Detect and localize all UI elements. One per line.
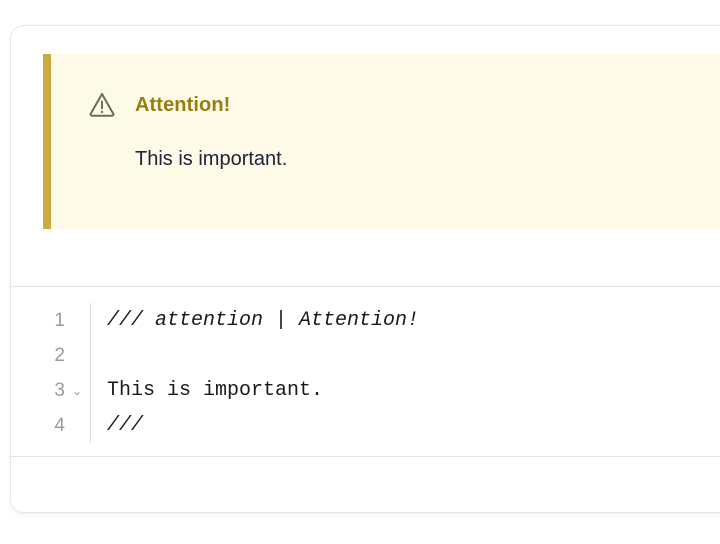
admonition-title: Attention! bbox=[135, 95, 230, 115]
line-gutter: 1 bbox=[11, 303, 91, 338]
warning-triangle-icon bbox=[87, 90, 117, 120]
line-gutter: 3 ⌄ bbox=[11, 373, 91, 408]
line-text[interactable]: This is important. bbox=[91, 373, 323, 408]
line-number: 2 bbox=[51, 345, 65, 367]
code-line[interactable]: 4 /// bbox=[11, 408, 720, 443]
line-number: 4 bbox=[51, 415, 65, 437]
source-code-editor[interactable]: 1 /// attention | Attention! 2 3 ⌄ This … bbox=[11, 287, 720, 457]
code-line[interactable]: 1 /// attention | Attention! bbox=[11, 303, 720, 338]
line-text[interactable]: /// bbox=[91, 408, 143, 443]
code-line[interactable]: 2 bbox=[11, 338, 720, 373]
line-number: 3 bbox=[51, 380, 65, 402]
admonition-body-text: This is important. bbox=[51, 120, 720, 173]
admonition-header: Attention! bbox=[51, 54, 720, 120]
card-footer bbox=[11, 457, 720, 511]
rendered-preview-pane: Attention! This is important. bbox=[11, 26, 720, 287]
code-line[interactable]: 3 ⌄ This is important. bbox=[11, 373, 720, 408]
preview-card: Attention! This is important. 1 /// atte… bbox=[10, 25, 720, 513]
line-number: 1 bbox=[51, 310, 65, 332]
line-gutter: 2 bbox=[11, 338, 91, 373]
fold-chevron-icon[interactable]: ⌄ bbox=[68, 385, 86, 397]
attention-admonition: Attention! This is important. bbox=[43, 54, 720, 229]
line-gutter: 4 bbox=[11, 408, 91, 443]
line-text[interactable]: /// attention | Attention! bbox=[91, 303, 419, 338]
